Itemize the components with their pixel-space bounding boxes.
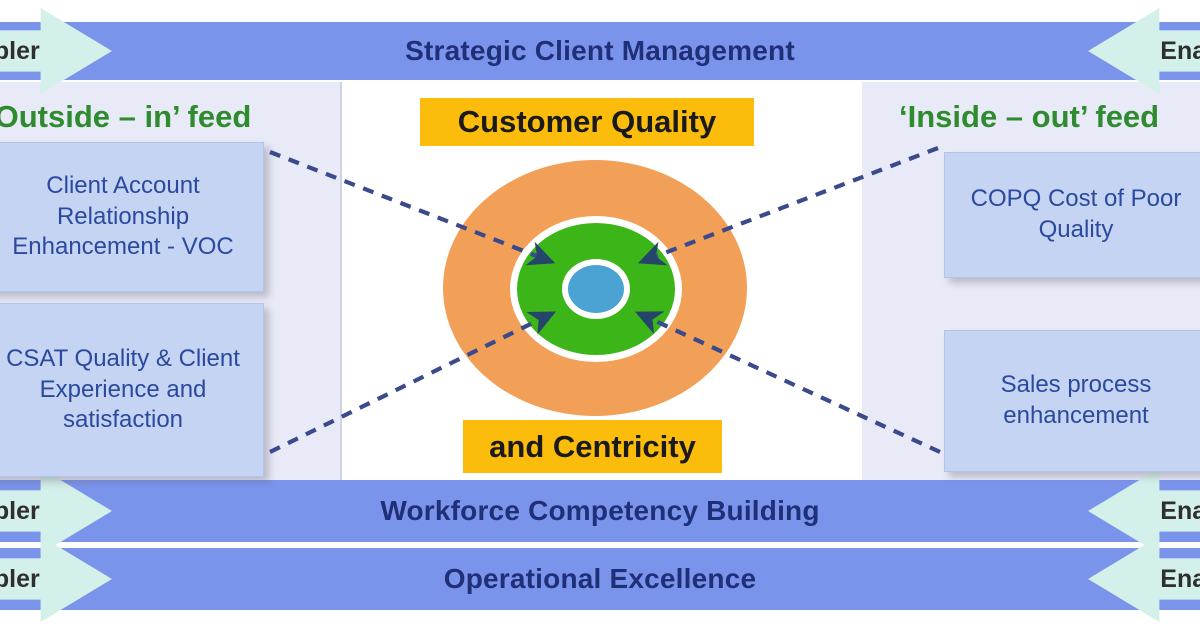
sales-process-text: Sales process enhancement (945, 370, 1200, 431)
enabler-label: Enabler (0, 497, 40, 526)
operational-excellence-label: Operational Excellence (444, 563, 757, 595)
workforce-competency-label: Workforce Competency Building (380, 495, 819, 527)
csat-box: CSAT Quality & Client Experience and sat… (0, 303, 264, 477)
inside-out-feed-heading: ‘Inside – out’ feed (899, 99, 1159, 135)
and-centricity-label: and Centricity (489, 429, 696, 465)
core-circle (562, 259, 630, 319)
strategic-client-management-label: Strategic Client Management (405, 35, 795, 67)
copq-text: COPQ Cost of Poor Quality (945, 184, 1200, 245)
sales-process-box: Sales process enhancement (944, 330, 1200, 472)
client-account-relationship-text: Client Account Relationship Enhancement … (0, 171, 263, 263)
enabler-label: Enabler (1102, 565, 1200, 594)
enabler-label: Enabler (0, 565, 40, 594)
strategic-client-management-bar: Strategic Client Management (0, 22, 1200, 80)
diagram-canvas: Strategic Client Management Workforce Co… (0, 0, 1200, 630)
enabler-label: Enabler (1102, 497, 1200, 526)
operational-excellence-bar: Operational Excellence (0, 548, 1200, 610)
outside-in-feed-heading: ‘Outside – in’ feed (0, 99, 251, 135)
copq-box: COPQ Cost of Poor Quality (944, 152, 1200, 278)
customer-quality-label: Customer Quality (458, 104, 716, 140)
enabler-label: Enabler (1102, 37, 1200, 66)
concentric-circles-group (443, 160, 747, 416)
workforce-competency-bar: Workforce Competency Building (0, 480, 1200, 542)
and-centricity-label-box: and Centricity (463, 420, 722, 473)
customer-quality-label-box: Customer Quality (420, 98, 754, 146)
enabler-label: Enabler (0, 37, 40, 66)
client-account-relationship-box: Client Account Relationship Enhancement … (0, 142, 264, 292)
csat-text: CSAT Quality & Client Experience and sat… (0, 344, 263, 436)
